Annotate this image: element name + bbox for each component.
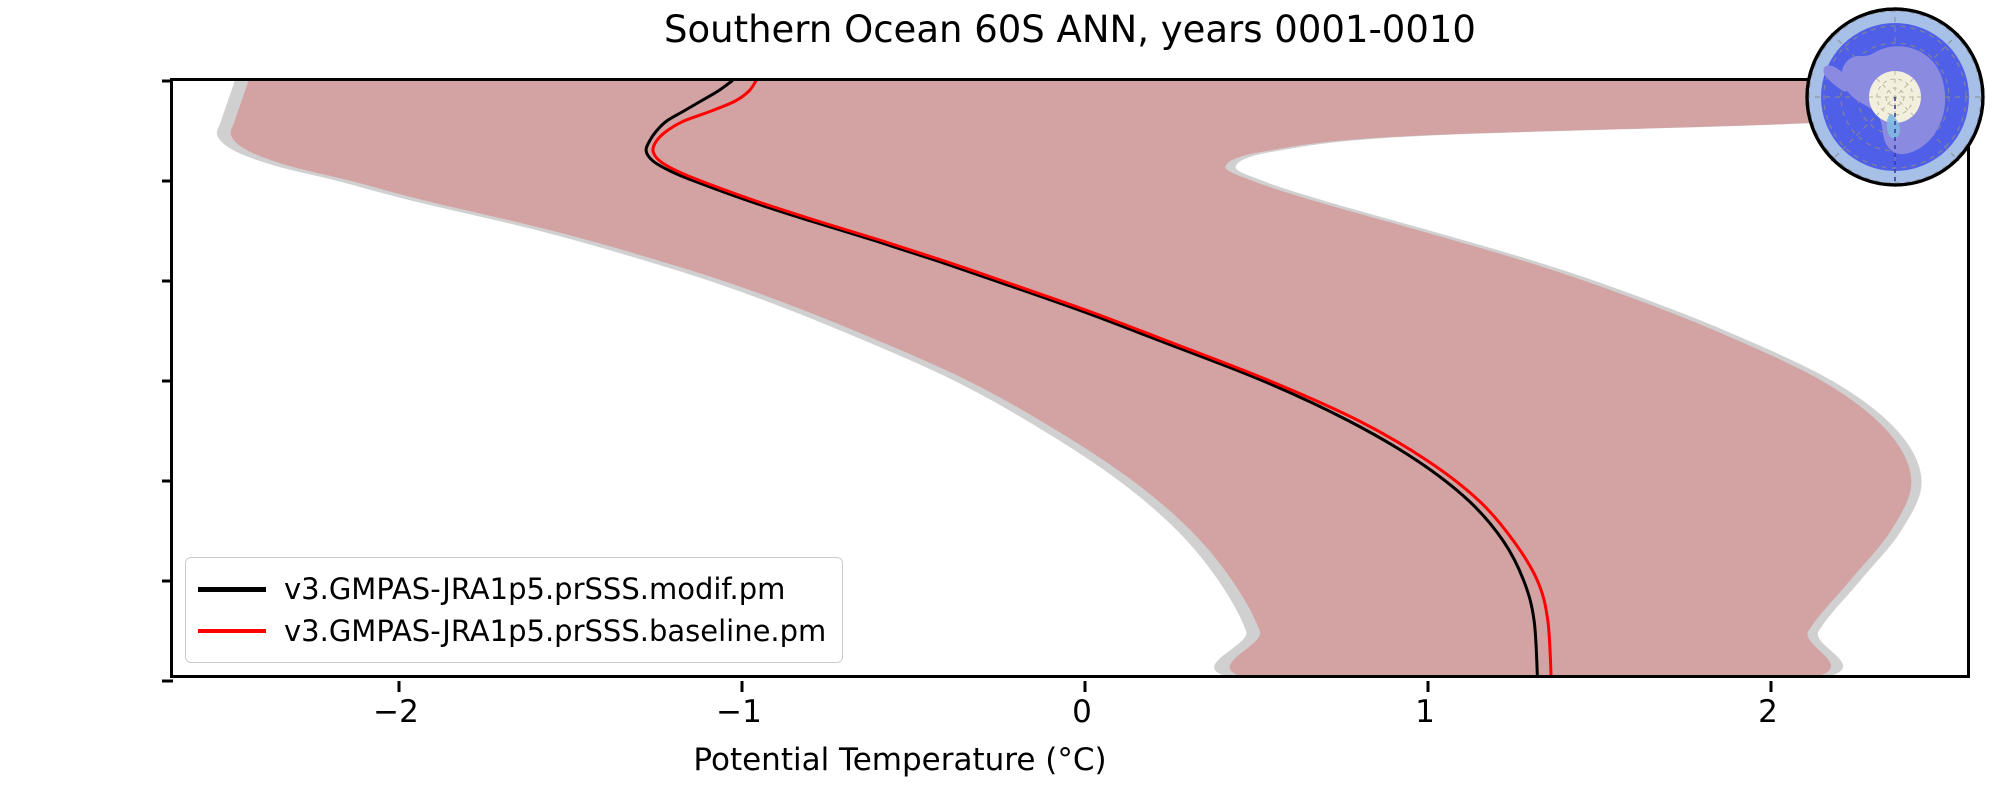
figure-canvas: Southern Ocean 60S ANN, years 0001-0010 … bbox=[0, 0, 2000, 800]
x-tick-mark bbox=[1084, 681, 1087, 692]
legend-item-baseline[interactable]: v3.GMPAS-JRA1p5.prSSS.baseline.pm bbox=[198, 610, 826, 652]
x-tick-mark bbox=[1427, 681, 1430, 692]
y-tick-mark bbox=[162, 680, 173, 683]
x-tick-label: −2 bbox=[373, 694, 419, 730]
y-tick-mark bbox=[162, 80, 173, 83]
plot-area: v3.GMPAS-JRA1p5.prSSS.modif.pm v3.GMPAS-… bbox=[170, 78, 1970, 678]
chart-title: Southern Ocean 60S ANN, years 0001-0010 bbox=[170, 10, 1970, 51]
x-tick-mark bbox=[741, 681, 744, 692]
x-axis-label: Potential Temperature (°C) bbox=[693, 742, 1106, 778]
x-tick-label: 0 bbox=[1072, 694, 1092, 730]
x-tick-label: −1 bbox=[716, 694, 762, 730]
x-tick-label: 1 bbox=[1415, 694, 1435, 730]
x-tick-label: 2 bbox=[1758, 694, 1778, 730]
legend-item-modif[interactable]: v3.GMPAS-JRA1p5.prSSS.modif.pm bbox=[198, 568, 826, 610]
legend-label-baseline: v3.GMPAS-JRA1p5.prSSS.baseline.pm bbox=[284, 614, 826, 648]
y-tick-mark bbox=[162, 480, 173, 483]
x-tick-mark bbox=[398, 681, 401, 692]
x-tick-mark bbox=[1770, 681, 1773, 692]
legend-swatch-baseline bbox=[198, 629, 266, 633]
y-tick-mark bbox=[162, 580, 173, 583]
legend-swatch-modif bbox=[198, 587, 266, 592]
y-tick-mark bbox=[162, 180, 173, 183]
legend-label-modif: v3.GMPAS-JRA1p5.prSSS.modif.pm bbox=[284, 572, 785, 606]
y-tick-mark bbox=[162, 280, 173, 283]
y-tick-mark bbox=[162, 380, 173, 383]
antarctica-inset-map bbox=[1800, 2, 1990, 192]
legend[interactable]: v3.GMPAS-JRA1p5.prSSS.modif.pm v3.GMPAS-… bbox=[185, 557, 843, 663]
